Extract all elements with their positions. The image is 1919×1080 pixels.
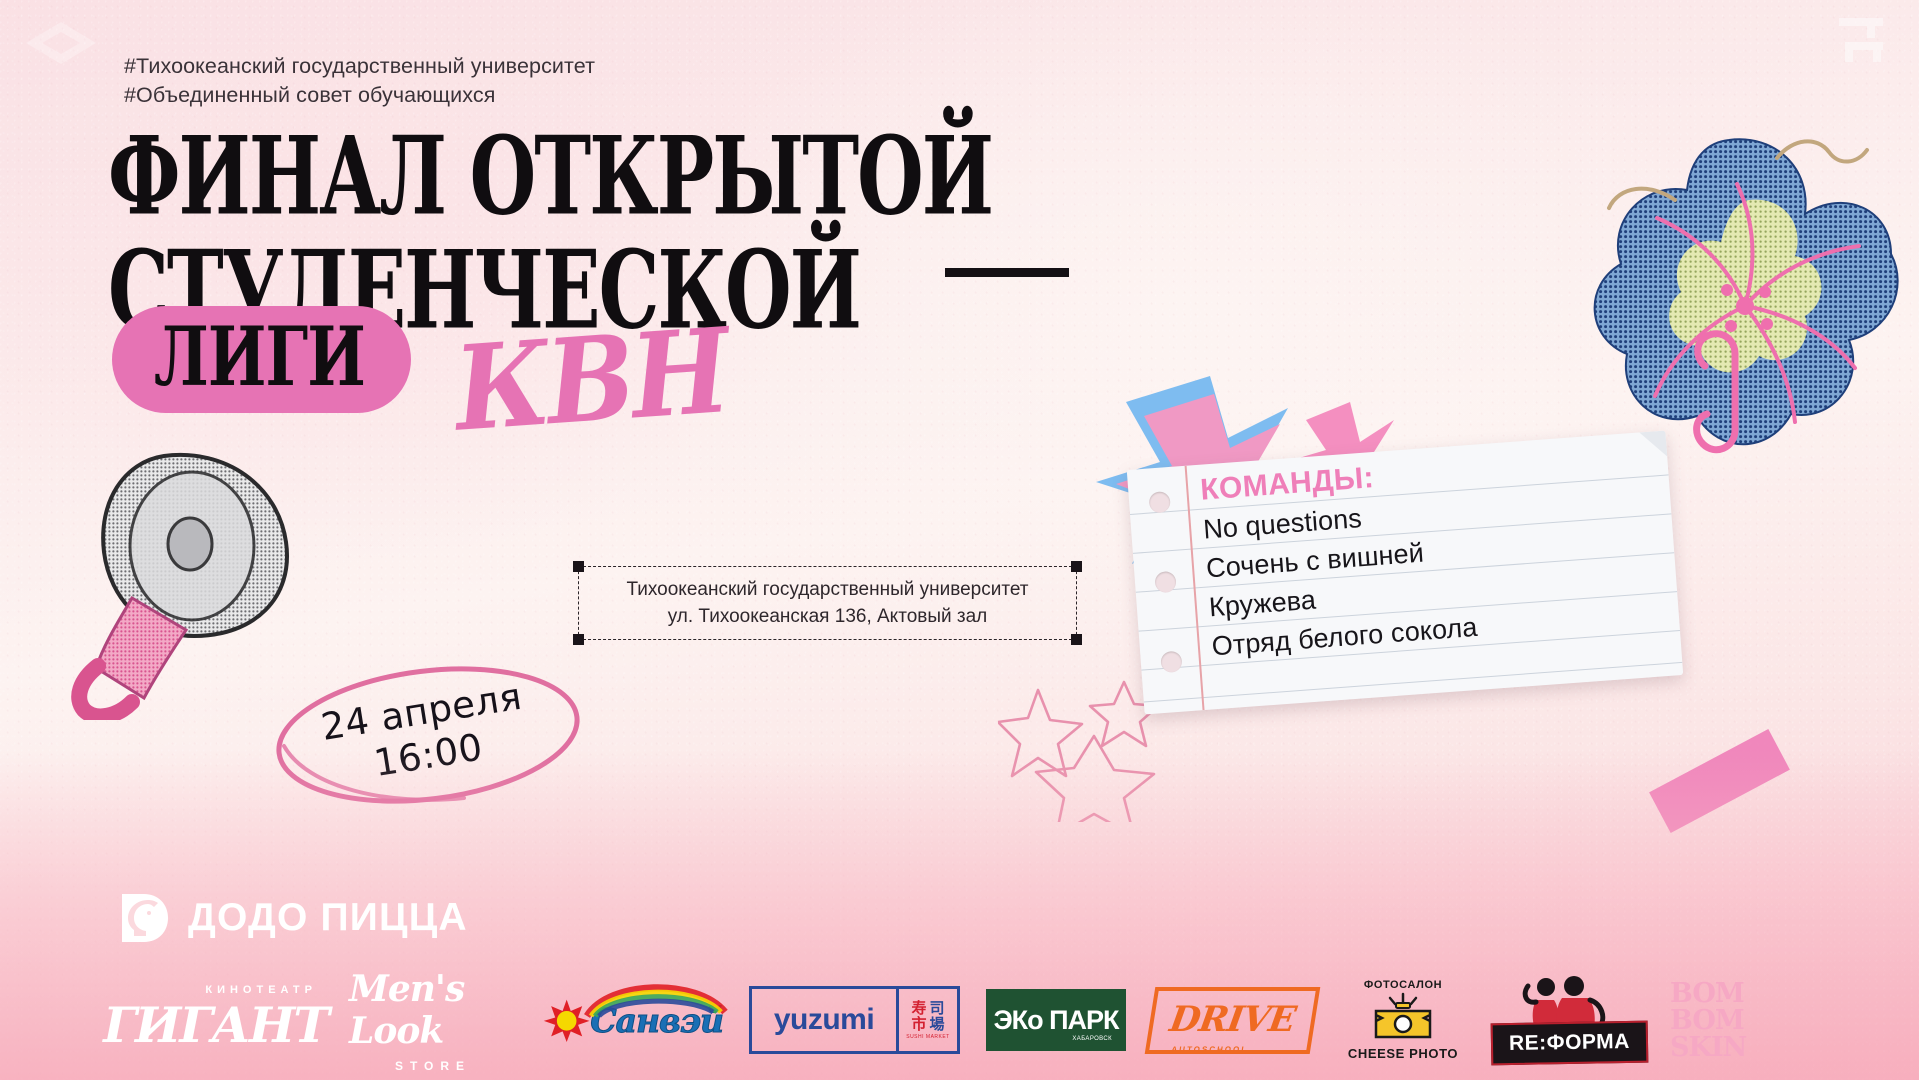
- kanji-3: 市: [911, 1017, 926, 1032]
- sponsor-drive-label: DRIVE: [1167, 999, 1298, 1040]
- sponsor-bombom-line2: BOM: [1670, 1007, 1744, 1034]
- liga-label: ЛИГИ: [154, 308, 365, 404]
- halftone-flower-icon: [1569, 120, 1919, 470]
- sponsor-cheese-photo: ФОТОСАЛОН CHEESE PHOTO: [1338, 970, 1468, 1070]
- sponsor-yuzumi-label: yuzumi: [752, 989, 896, 1051]
- venue-line-2: ул. Тихоокеанская 136, Актовый зал: [668, 603, 988, 630]
- kanji-2: 司: [930, 1001, 945, 1016]
- sponsor-bombom-line3: SKIN: [1670, 1034, 1746, 1061]
- sponsor-gigant-label: ГИГАНТ: [103, 996, 328, 1054]
- note-sheet: КОМАНДЫ: No questions Сочень с вишней Кр…: [1127, 431, 1683, 715]
- sponsor-gigant-kino: КИНОТЕАТР: [205, 984, 317, 996]
- togu-logo-icon: [1833, 8, 1895, 70]
- sponsor-bombom-line1: BOM: [1670, 980, 1744, 1007]
- sponsor-cheese-top: ФОТОСАЛОН: [1364, 979, 1442, 991]
- headline-line-1: ФИНАЛ ОТКРЫТОЙ: [108, 128, 1157, 228]
- selection-handle-top-left[interactable]: [573, 561, 584, 572]
- liga-pill-wrap: ЛИГИ: [112, 306, 411, 413]
- teams-note-paper: КОМАНДЫ: No questions Сочень с вишней Кр…: [1127, 431, 1683, 715]
- venue-line-1: Тихоокеанский государственный университе…: [627, 576, 1029, 603]
- sponsor-ecopark-sub: ХАБАРОВСК: [1072, 1036, 1112, 1042]
- sponsor-menslook: Men's Look STORE: [349, 970, 517, 1070]
- poster-canvas: #Тихоокеанский государственный университ…: [0, 0, 1919, 1080]
- sponsor-drive-frame: DRIVE AUTOSCHOOL: [1144, 987, 1319, 1054]
- washi-tape-decor: [1649, 729, 1790, 833]
- camera-icon: [1372, 991, 1434, 1041]
- note-hole: [1160, 651, 1182, 673]
- sponsor-drive-sub: AUTOSCHOOL: [1170, 1045, 1248, 1054]
- hashtags-block: #Тихоокеанский государственный университ…: [124, 52, 595, 110]
- sponsor-reforma-banner: RE:ФОРМА: [1490, 1021, 1648, 1066]
- headline-dash: [945, 268, 1069, 277]
- sponsor-ecopark-label: ЭКо ПАРК: [993, 1005, 1118, 1036]
- headline-block: ФИНАЛ ОТКРЫТОЙ СТУДЕНЧЕСКОЙ: [108, 128, 1178, 314]
- sponsor-drive: DRIVE AUTOSCHOOL: [1152, 970, 1312, 1070]
- sponsor-yuzumi-kanji: 寿 司 市 場 SUSHI MARKET: [896, 989, 957, 1051]
- kanji-4: 場: [930, 1017, 945, 1032]
- hashtag-line-1: #Тихоокеанский государственный университ…: [124, 52, 595, 81]
- sponsor-menslook-sub: STORE: [395, 1059, 471, 1073]
- selection-handle-top-right[interactable]: [1071, 561, 1082, 572]
- hashtag-line-2: #Объединенный совет обучающихся: [124, 81, 595, 110]
- sponsor-gigant: КИНОТЕАТР ГИГАНТ: [108, 970, 323, 1070]
- sponsor-cheese-bottom: CHEESE PHOTO: [1348, 1046, 1458, 1061]
- teams-list: КОМАНДЫ: No questions Сочень с вишней Кр…: [1199, 437, 1668, 666]
- sponsor-reforma-label: RE:ФОРМА: [1508, 1030, 1629, 1055]
- dodo-bird-icon: [118, 892, 170, 944]
- sponsor-yuzumi: yuzumi 寿 司 市 場 SUSHI MARKET: [749, 986, 960, 1054]
- sponsor-reforma: RE:ФОРМА: [1494, 970, 1644, 1070]
- kvn-script-label: КВН: [451, 301, 732, 457]
- sponsor-sunway: Санвэй: [543, 970, 723, 1070]
- decorative-diamond-icon: [22, 18, 100, 68]
- liga-pill: ЛИГИ: [112, 306, 411, 413]
- sponsor-ecopark: ЭКо ПАРК ХАБАРОВСК: [986, 989, 1126, 1051]
- sponsor-bombomskin: BOM BOM SKIN: [1670, 970, 1790, 1070]
- selection-handle-bottom-left[interactable]: [573, 634, 584, 645]
- sponsor-dodo-label: ДОДО ПИЦЦА: [188, 896, 468, 940]
- sponsor-yuzumi-sub: SUSHI MARKET: [906, 1034, 950, 1040]
- sponsor-menslook-label: Men's Look: [349, 968, 517, 1052]
- venue-selection-box[interactable]: Тихоокеанский государственный университе…: [578, 566, 1077, 640]
- kanji-1: 寿: [911, 1001, 926, 1016]
- sponsor-dodo-pizza: ДОДО ПИЦЦА: [118, 892, 468, 944]
- sponsor-logo-row: КИНОТЕАТР ГИГАНТ Men's Look STORE Санвэй…: [108, 965, 1908, 1075]
- note-hole: [1148, 491, 1170, 513]
- selection-handle-bottom-right[interactable]: [1071, 634, 1082, 645]
- rainbow-arc-icon: [581, 978, 731, 1018]
